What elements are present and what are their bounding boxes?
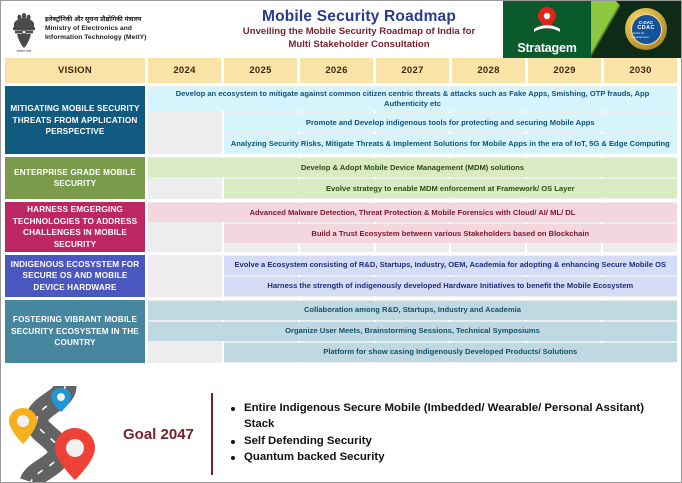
initiative-bar[interactable]: Platform for show casing Indigenously De… (224, 343, 677, 362)
lane-group-1: Develop an ecosystem to mitigate against… (148, 86, 677, 154)
goal-footer: Goal 2047 Entire Indigenous Secure Mobil… (1, 386, 681, 482)
goal-list-item: Quantum backed Security (229, 450, 673, 466)
lane-group-3: Advanced Malware Detection, Threat Prote… (148, 202, 677, 252)
initiative-bar[interactable]: Evolve strategy to enable MDM enforcemen… (224, 179, 677, 198)
goal-list-item: Self Defending Security (229, 434, 673, 450)
roadmap-row-enterprise-grade-mobile-security: ENTERPRISE GRADE MOBILE SECURITY Develop… (5, 157, 677, 199)
cdac-logo: C-DAC CDAC Centre for Development (591, 1, 681, 58)
stratagem-logo: Stratagem (503, 1, 591, 58)
initiative-bar[interactable]: Develop & Adopt Mobile Device Management… (148, 158, 677, 177)
ministry-name: इलेक्ट्रॉनिकी और सूचना प्रौद्योगिकी मंत्… (45, 16, 146, 42)
year-header-2024: 2024 (148, 58, 221, 83)
roadmap-row-mitigating-mobile-security-threats: MITIGATING MOBILE SECURITY THREATS FROM … (5, 86, 677, 154)
initiative-bar[interactable]: Analyzing Security Risks, Mitigate Threa… (224, 134, 677, 153)
year-header-2025: 2025 (224, 58, 297, 83)
initiative-bar[interactable]: Build a Trust Ecosystem between various … (224, 224, 677, 243)
vision-label-1: MITIGATING MOBILE SECURITY THREATS FROM … (5, 86, 145, 154)
badge-text-line3: Centre for Development (632, 31, 661, 39)
year-header-2028: 2028 (452, 58, 525, 83)
ministry-name-line1: Ministry of Electronics and (45, 25, 146, 34)
roadmap-page: सत्यमेव जयते इलेक्ट्रॉनिकी और सूचना प्रौ… (0, 0, 682, 483)
year-header-2027: 2027 (376, 58, 449, 83)
ministry-name-line2: Information Technology (MeitY) (45, 34, 146, 43)
timeline-header-row: VISION 2024 2025 2026 2027 2028 2029 203… (1, 58, 681, 83)
initiative-bar[interactable]: Collaboration among R&D, Startups, Indus… (148, 301, 677, 320)
year-header-2026: 2026 (300, 58, 373, 83)
page-subtitle-line1: Unveiling the Mobile Security Roadmap of… (243, 26, 475, 39)
year-header-2030: 2030 (604, 58, 677, 83)
initiative-bar[interactable]: Evolve a Ecosystem consisting of R&D, St… (224, 256, 677, 275)
svg-text:सत्यमेव जयते: सत्यमेव जयते (17, 49, 32, 53)
ministry-branding: सत्यमेव जयते इलेक्ट्रॉनिकी और सूचना प्रौ… (1, 1, 215, 58)
year-header-2029: 2029 (528, 58, 601, 83)
roadmap-row-fostering-vibrant-ecosystem: FOSTERING VIBRANT MOBILE SECURITY ECOSYS… (5, 300, 677, 363)
vision-label-3: HARNESS EMGERGING TECHNOLOGIES TO ADDRES… (5, 202, 145, 252)
page-title: Mobile Security Roadmap (262, 8, 456, 26)
goal-list-item: Entire Indigenous Secure Mobile (Imbedde… (229, 401, 673, 432)
initiative-bar[interactable]: Develop an ecosystem to mitigate against… (148, 87, 677, 111)
vision-label-5: FOSTERING VIBRANT MOBILE SECURITY ECOSYS… (5, 300, 145, 363)
lane-group-2: Develop & Adopt Mobile Device Management… (148, 157, 677, 199)
initiative-bar[interactable]: Harness the strength of indigenously dev… (224, 277, 677, 296)
lane-group-4: Evolve a Ecosystem consisting of R&D, St… (148, 255, 677, 297)
lane-group-5: Collaboration among R&D, Startups, Indus… (148, 300, 677, 363)
goal-items-list: Entire Indigenous Secure Mobile (Imbedde… (213, 401, 681, 466)
partner-logos: Stratagem C-DAC CDAC Centre for Developm… (503, 1, 681, 58)
initiative-bar[interactable]: Promote and Develop indigenous tools for… (224, 113, 677, 132)
winding-road-with-map-pins-icon (1, 386, 119, 482)
page-subtitle-line2: Multi Stakeholder Consultation (288, 39, 429, 52)
vision-column-header: VISION (5, 58, 145, 83)
vision-label-4: INDIGENOUS ECOSYSTEM FOR SECURE OS AND M… (5, 255, 145, 297)
ministry-name-hindi: इलेक्ट्रॉनिकी और सूचना प्रौद्योगिकी मंत्… (45, 16, 146, 25)
initiative-bar[interactable]: Advanced Malware Detection, Threat Prote… (148, 203, 677, 222)
stratagem-logo-icon (532, 5, 562, 33)
roadmap-row-indigenous-ecosystem-secure-os: INDIGENOUS ECOSYSTEM FOR SECURE OS AND M… (5, 255, 677, 297)
stratagem-logo-text: Stratagem (503, 41, 591, 55)
vision-label-2: ENTERPRISE GRADE MOBILE SECURITY (5, 157, 145, 199)
title-block: Mobile Security Roadmap Unveiling the Mo… (215, 1, 503, 58)
initiative-bar[interactable]: Organize User Meets, Brainstorming Sessi… (148, 322, 677, 341)
india-state-emblem-icon: सत्यमेव जयते (9, 7, 39, 53)
roadmap-row-harness-emerging-technologies: HARNESS EMGERGING TECHNOLOGIES TO ADDRES… (5, 202, 677, 252)
cdac-badge-icon: C-DAC CDAC Centre for Development (625, 8, 667, 50)
page-header: सत्यमेव जयते इलेक्ट्रॉनिकी और सूचना प्रौ… (1, 1, 681, 58)
goal-title: Goal 2047 (119, 426, 211, 443)
roadmap-grid: MITIGATING MOBILE SECURITY THREATS FROM … (1, 83, 681, 363)
